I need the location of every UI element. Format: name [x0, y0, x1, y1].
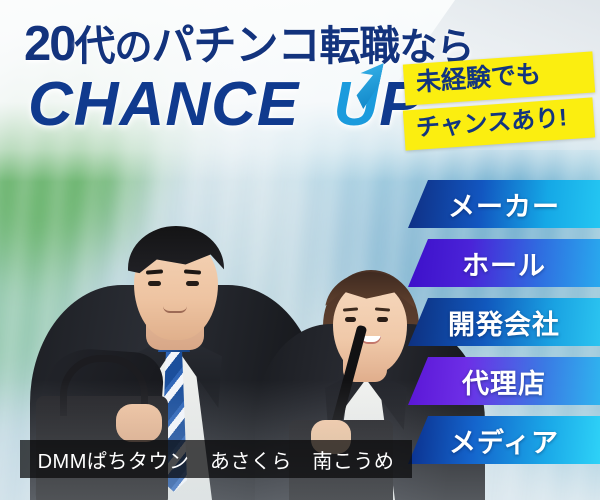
man-eye-right: [186, 281, 199, 286]
logo-chance: CHANCE: [28, 70, 299, 139]
headline-dai: 代: [75, 23, 115, 69]
badge-line-1: 未経験でも: [403, 51, 595, 105]
headline-pachinko: パチンコ: [152, 22, 320, 70]
woman-eye-right: [377, 317, 388, 322]
headline-tenshoku: 転職: [320, 23, 400, 69]
badge-line-2: チャンスあり!: [403, 97, 595, 150]
category-button-hall[interactable]: ホール: [408, 239, 600, 287]
man-eye-left: [148, 281, 161, 286]
man-hand: [116, 404, 162, 442]
category-button-maker[interactable]: メーカー: [408, 180, 600, 228]
category-button-media[interactable]: メディア: [408, 416, 600, 464]
headline-number: 20: [24, 17, 75, 71]
headline-no: の: [115, 27, 152, 69]
woman-eye-left: [345, 317, 356, 322]
status-badge: 未経験でも チャンスあり!: [404, 58, 594, 144]
chance-up-banner: 20代のパチンコ転職なら CHANCE UP 未経験でも チャンスあり! メーカ…: [0, 0, 600, 500]
category-list: メーカー ホール 開発会社 代理店 メディア: [400, 180, 600, 475]
man-mouth: [163, 306, 187, 313]
category-button-developer[interactable]: 開発会社: [408, 298, 600, 346]
category-button-agency[interactable]: 代理店: [408, 357, 600, 405]
brand-logo: CHANCE UP: [28, 74, 422, 136]
caption-bar: DMMぱちタウン あさくら 南こうめ: [20, 440, 412, 478]
